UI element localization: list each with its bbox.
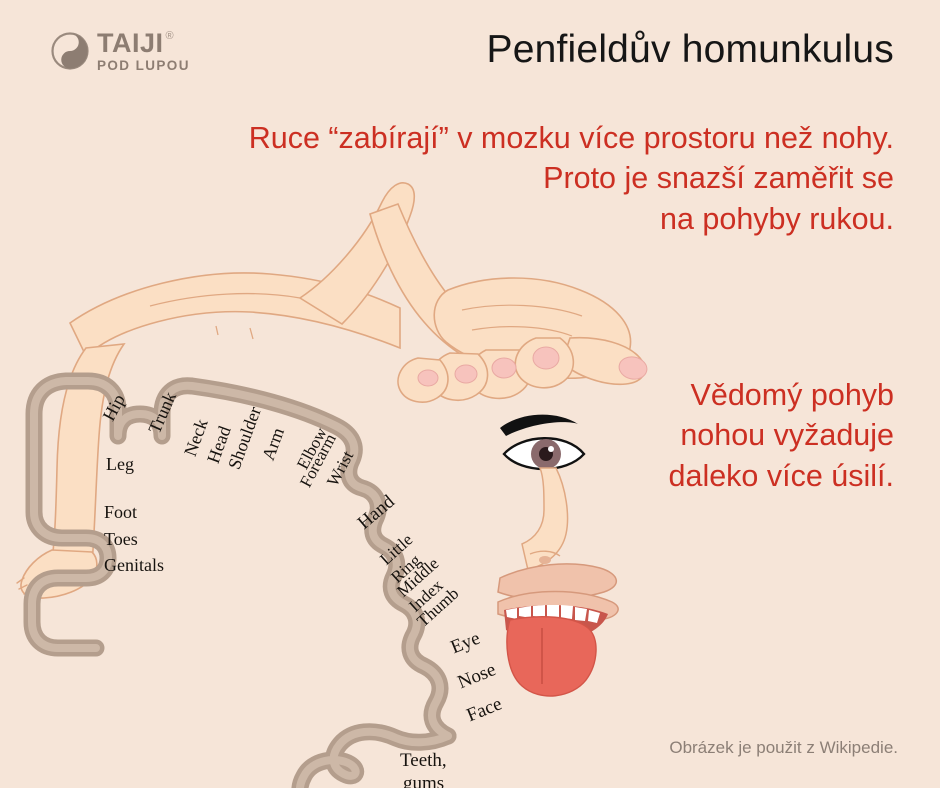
brand-wordmark: TAIJI ® POD LUPOU	[97, 30, 190, 73]
face-illustration	[498, 415, 618, 696]
brand-logo[interactable]: TAIJI ® POD LUPOU	[50, 30, 190, 73]
homunculus-figure: HipLegTrunkNeckHeadShoulderArmFootToesGe…	[0, 178, 700, 788]
eyebrow-icon	[500, 415, 578, 436]
poster-canvas: TAIJI ® POD LUPOU Penfieldův homunkulus …	[0, 0, 940, 788]
cortex-label-toes: Toes	[104, 530, 138, 549]
tongue-icon	[507, 617, 596, 696]
brand-tagline: POD LUPOU	[97, 59, 190, 73]
cortex-label-leg: Leg	[106, 455, 134, 474]
cortex-label-gums: gums	[403, 774, 444, 788]
callout-top-line-1: Ruce “zabírají” v mozku více prostoru ne…	[94, 118, 894, 158]
brand-name: TAIJI	[97, 30, 164, 57]
homunculus-illustration	[0, 178, 700, 788]
eye-icon	[504, 438, 584, 469]
registered-mark: ®	[166, 31, 174, 42]
nose-icon	[522, 468, 568, 570]
cortex-label-genitals: Genitals	[104, 556, 164, 575]
cortex-label-foot: Foot	[104, 503, 137, 522]
image-credit: Obrázek je použit z Wikipedie.	[669, 738, 898, 758]
cortex-label-teeth: Teeth,	[400, 751, 447, 772]
taiji-yin-yang-icon	[50, 31, 90, 71]
page-title: Penfieldův homunkulus	[487, 28, 894, 72]
